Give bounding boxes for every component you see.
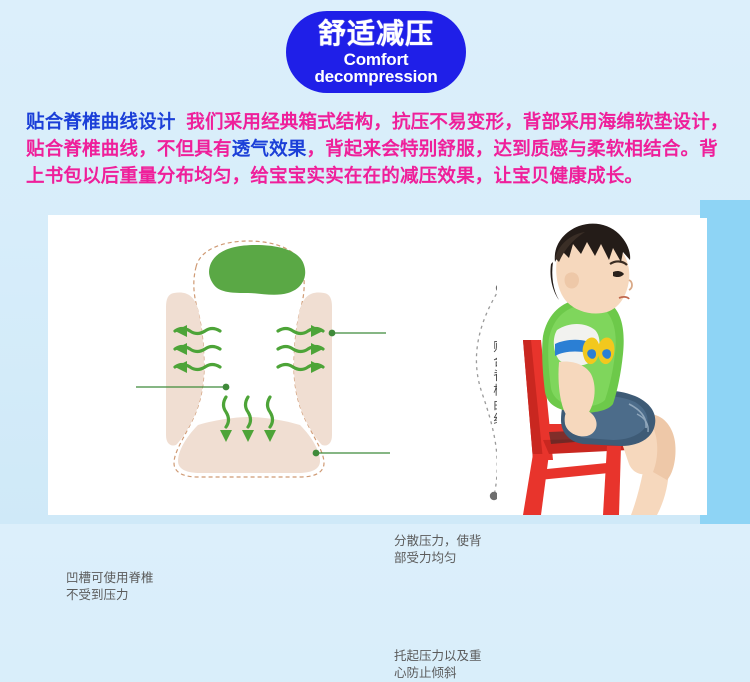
badge-title-en: Comfort decompression <box>314 51 437 85</box>
description-heading: 贴合脊椎曲线设计 <box>26 111 176 132</box>
badge-title-en-line2: decompression <box>314 67 437 86</box>
right-blue-strip <box>700 200 750 524</box>
description-paragraph: 贴合脊椎曲线设计 我们采用经典箱式结构，抗压不易变形，背部采用海绵软垫设计，贴合… <box>26 108 732 189</box>
annotation-right-bottom-line2: 心防止倾斜 <box>394 665 482 682</box>
annotation-right-bottom: 托起压力以及重 心防止倾斜 <box>394 648 482 682</box>
header-badge: 舒适减压 Comfort decompression <box>286 11 466 93</box>
annotation-left-line1: 凹槽可使用脊椎 <box>66 570 154 587</box>
annotation-right-top-line1: 分散压力，使背 <box>394 533 482 550</box>
child-on-chair-photo <box>497 218 707 515</box>
headrest-pad <box>209 245 305 295</box>
annotation-right-top-line2: 部受力均匀 <box>394 550 482 567</box>
annotation-right-bottom-line1: 托起压力以及重 <box>394 648 482 665</box>
badge-title-cn: 舒适减压 <box>318 19 434 48</box>
description-highlight: 透气效果 <box>232 138 307 159</box>
annotation-left: 凹槽可使用脊椎 不受到压力 <box>66 570 154 604</box>
annotation-left-line2: 不受到压力 <box>66 587 154 604</box>
backpack-back-panel-diagram <box>48 215 408 515</box>
annotation-right-top: 分散压力，使背 部受力均匀 <box>394 533 482 567</box>
